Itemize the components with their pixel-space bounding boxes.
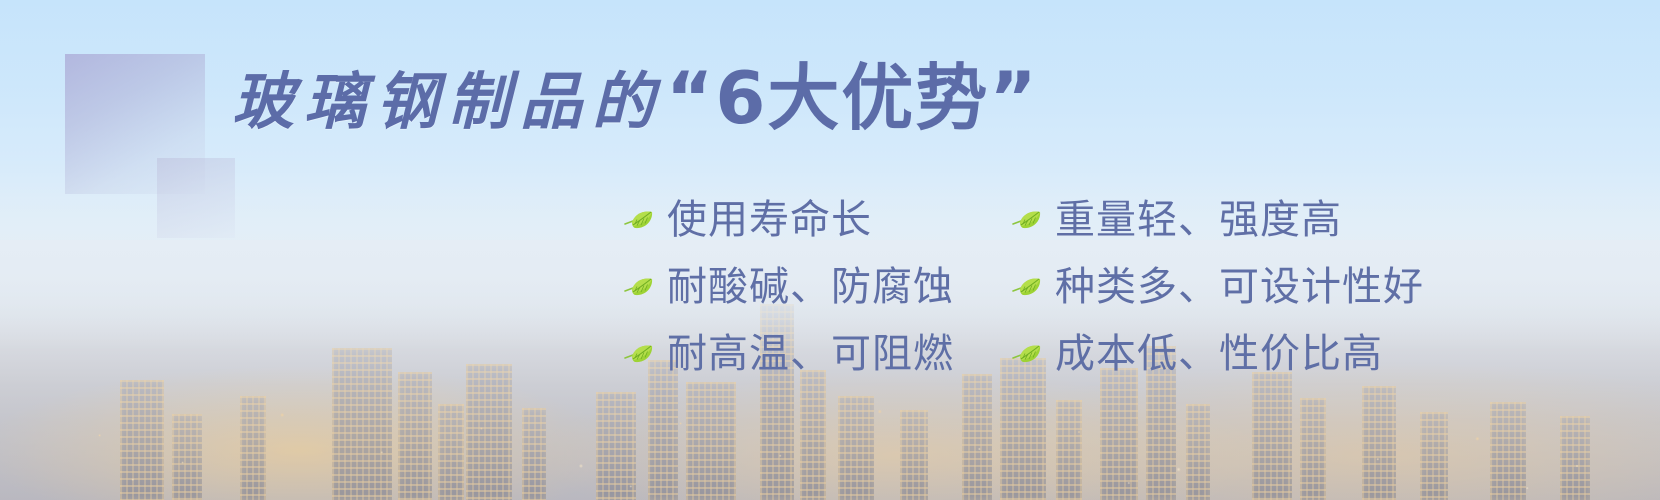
feature-item: 重量轻、强度高 — [1012, 186, 1424, 253]
decorative-square-small — [157, 158, 235, 238]
leaf-icon — [624, 276, 654, 298]
title-brush-text: 玻璃钢制品的 — [232, 71, 664, 133]
title-bold-text: “6大优势” — [666, 62, 1039, 134]
leaf-icon — [1012, 276, 1042, 298]
feature-label: 种类多、可设计性好 — [1055, 267, 1424, 307]
feature-label: 重量轻、强度高 — [1055, 200, 1342, 240]
feature-label: 耐高温、可阻燃 — [667, 334, 954, 374]
leaf-icon — [624, 209, 654, 231]
page-title: 玻璃钢制品的 “6大优势” — [232, 62, 1039, 134]
feature-label: 耐酸碱、防腐蚀 — [667, 267, 954, 307]
feature-list: 使用寿命长 重量轻、强度高 耐酸碱、防腐蚀 — [624, 186, 1424, 387]
feature-label: 成本低、性价比高 — [1055, 334, 1383, 374]
feature-item: 种类多、可设计性好 — [1012, 253, 1424, 320]
feature-item: 耐酸碱、防腐蚀 — [624, 253, 1012, 320]
feature-label: 使用寿命长 — [667, 200, 872, 240]
leaf-icon — [624, 343, 654, 365]
feature-item: 耐高温、可阻燃 — [624, 320, 1012, 387]
feature-item: 成本低、性价比高 — [1012, 320, 1424, 387]
leaf-icon — [1012, 209, 1042, 231]
feature-item: 使用寿命长 — [624, 186, 1012, 253]
leaf-icon — [1012, 343, 1042, 365]
promo-banner: 玻璃钢制品的 “6大优势” 使用寿命长 重量轻、强度高 — [0, 0, 1660, 500]
